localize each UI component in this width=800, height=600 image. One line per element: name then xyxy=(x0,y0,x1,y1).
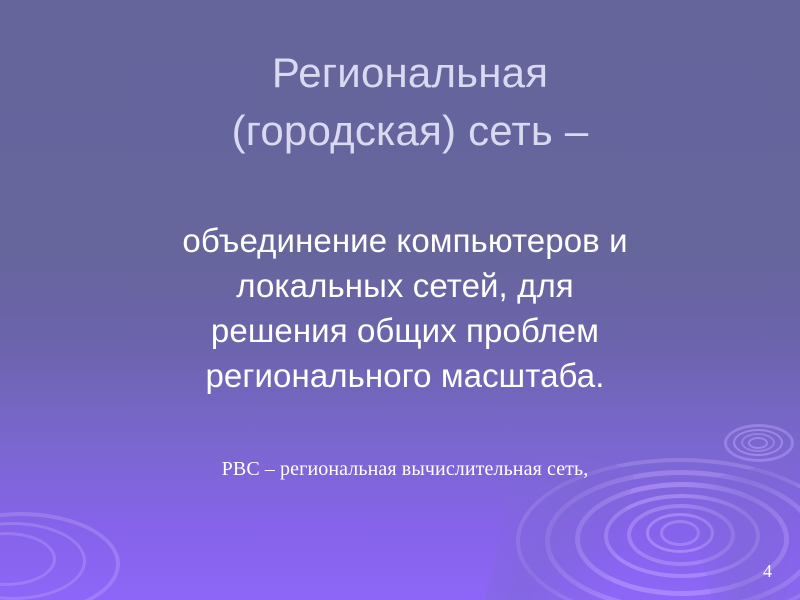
water-ripple-left-ring-1-icon xyxy=(0,512,120,600)
water-ripple-large-ring-6-icon xyxy=(660,520,700,546)
ripple-blend-mask-right xyxy=(683,459,800,600)
water-ripple-large-ring-3-icon xyxy=(604,494,760,578)
water-ripple-small-ring-4-icon xyxy=(748,437,768,449)
presentation-slide: Региональная (городская) сеть – объедине… xyxy=(0,0,800,600)
water-ripple-left-ring-2-icon xyxy=(0,522,86,600)
slide-body-text: объединение компьютеров и локальных сете… xyxy=(120,218,690,398)
water-ripple-left-ring-3-icon xyxy=(0,532,56,586)
water-ripple-large-ring-1-icon xyxy=(545,470,800,600)
slide-page-number: 4 xyxy=(763,562,772,580)
water-ripple-small-ring-3-icon xyxy=(741,433,775,452)
water-ripple-large-ring-5-icon xyxy=(646,513,714,553)
water-ripple-small-ring-2-icon xyxy=(733,429,783,456)
water-ripple-large-ring-2-icon xyxy=(575,482,789,596)
slide-footnote: РВС – региональная вычислительная сеть, xyxy=(120,456,690,483)
water-ripple-large-ring-4-icon xyxy=(627,504,735,566)
slide-title: Региональная (городская) сеть – xyxy=(150,44,670,160)
water-ripple-small-ring-1-icon xyxy=(724,424,794,462)
